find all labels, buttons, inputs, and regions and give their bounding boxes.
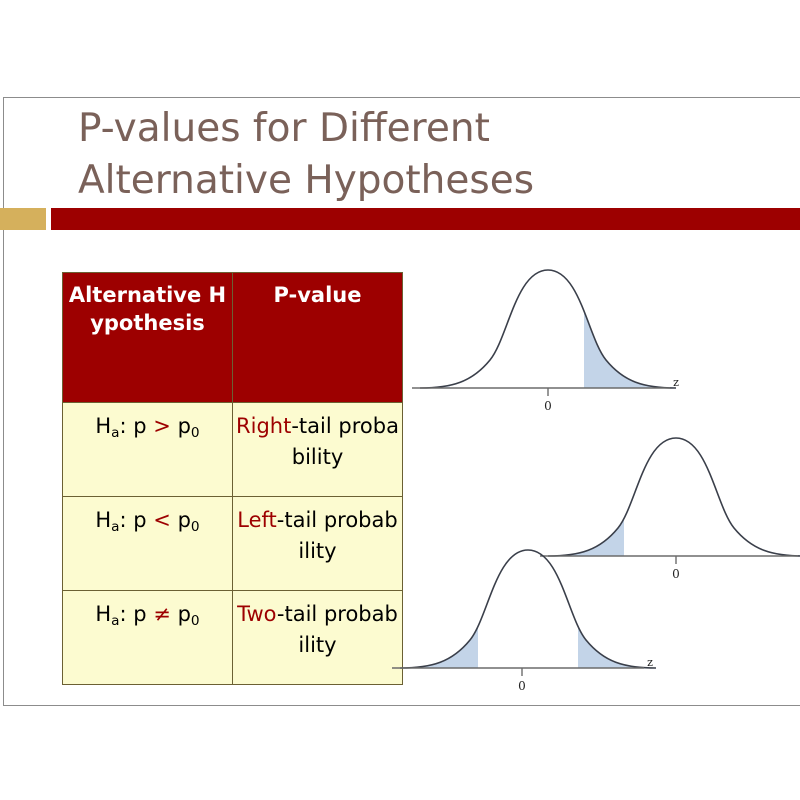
- cell-pvalue-row-0: Right-tail probability: [233, 403, 403, 497]
- hypothesis-h-row-2: H: [95, 602, 111, 626]
- shaded-left-tail-region: [400, 530, 478, 668]
- hypothesis-symbol-row-0: >: [153, 414, 171, 438]
- center-tick-label: 0: [672, 567, 680, 580]
- normal-distribution-curve: [400, 550, 656, 668]
- cell-hypothesis-row-2: Ha: p ≠ p0: [63, 591, 233, 685]
- table-header-row: Alternative Hypothesis P-value: [63, 273, 403, 403]
- hypothesis-suffix-sub-row-1: 0: [191, 519, 200, 535]
- right-tail-curve: 0 z: [412, 240, 684, 412]
- pvalue-expression-row-0: Right-tail probability: [235, 411, 400, 473]
- pvalue-tail-word-row-1: Left: [237, 508, 277, 532]
- pvalue-rest-row-2: -tail probability: [277, 602, 398, 657]
- pvalue-rest-row-0: -tail probability: [291, 414, 399, 469]
- hypothesis-mid-row-0: : p: [120, 414, 154, 438]
- gold-accent-bar: [0, 208, 46, 230]
- hypothesis-suffix-row-0: p: [171, 414, 191, 438]
- axis-label-z: z: [673, 376, 679, 389]
- cell-hypothesis-row-0: Ha: p > p0: [63, 403, 233, 497]
- shaded-left-edge-region: [420, 250, 450, 388]
- hypothesis-mid-row-2: : p: [120, 602, 154, 626]
- two-tail-curve: 0 z: [392, 520, 664, 692]
- pvalue-expression-row-2: Two-tail probability: [235, 599, 400, 661]
- column-header-alternative-hypothesis: Alternative Hypothesis: [63, 273, 233, 403]
- column-header-alternative-hypothesis-label: Alternative Hypothesis: [65, 281, 230, 337]
- hypothesis-sub-row-1: a: [111, 519, 119, 535]
- axis-label-z: z: [647, 656, 653, 669]
- pvalue-rest-row-1: -tail probability: [277, 508, 398, 563]
- hypothesis-suffix-sub-row-2: 0: [191, 613, 200, 629]
- hypothesis-expression-row-1: Ha: p < p0: [65, 505, 230, 539]
- center-tick-label: 0: [518, 679, 526, 692]
- hypothesis-suffix-sub-row-0: 0: [191, 425, 200, 441]
- hypothesis-h-row-1: H: [95, 508, 111, 532]
- hypothesis-expression-row-2: Ha: p ≠ p0: [65, 599, 230, 633]
- red-accent-bar: [51, 208, 800, 230]
- pvalue-table: Alternative Hypothesis P-value Ha: p > p…: [62, 272, 403, 685]
- page-title: P-values for Different Alternative Hypot…: [78, 103, 718, 207]
- hypothesis-sub-row-0: a: [111, 425, 119, 441]
- normal-distribution-curve: [420, 270, 676, 388]
- column-header-pvalue: P-value: [233, 273, 403, 403]
- hypothesis-sub-row-2: a: [111, 613, 119, 629]
- shaded-right-tail-region: [578, 530, 660, 668]
- hypothesis-suffix-row-2: p: [171, 602, 191, 626]
- cell-pvalue-row-2: Two-tail probability: [233, 591, 403, 685]
- table-row: Ha: p < p0 Left-tail probability: [63, 497, 403, 591]
- pvalue-tail-word-row-2: Two: [237, 602, 277, 626]
- table-row: Ha: p ≠ p0 Two-tail probability: [63, 591, 403, 685]
- pvalue-expression-row-1: Left-tail probability: [235, 505, 400, 567]
- cell-pvalue-row-1: Left-tail probability: [233, 497, 403, 591]
- hypothesis-mid-row-1: : p: [120, 508, 154, 532]
- hypothesis-expression-row-0: Ha: p > p0: [65, 411, 230, 445]
- cell-hypothesis-row-1: Ha: p < p0: [63, 497, 233, 591]
- hypothesis-suffix-row-1: p: [171, 508, 191, 532]
- shaded-right-tail-region: [584, 250, 680, 388]
- hypothesis-symbol-row-1: <: [153, 508, 171, 532]
- pvalue-tail-word-row-0: Right: [236, 414, 291, 438]
- column-header-pvalue-label: P-value: [235, 281, 400, 309]
- table-row: Ha: p > p0 Right-tail probability: [63, 403, 403, 497]
- hypothesis-h-row-0: H: [95, 414, 111, 438]
- hypothesis-symbol-row-2: ≠: [153, 602, 171, 626]
